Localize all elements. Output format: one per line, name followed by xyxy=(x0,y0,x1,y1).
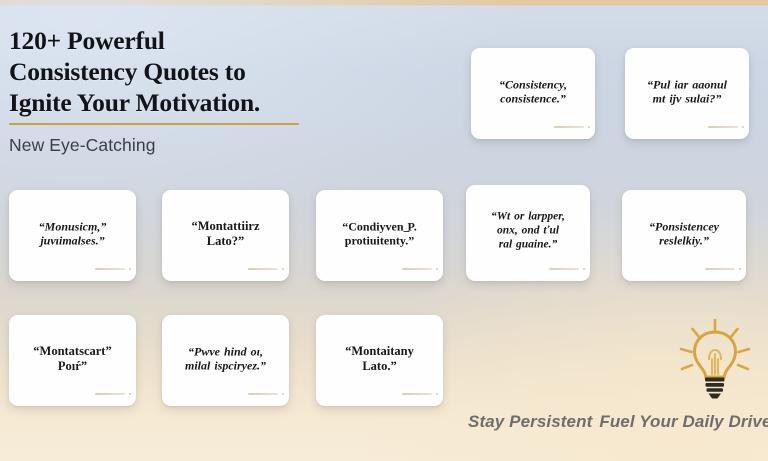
quote-card-attribution-dot xyxy=(583,268,585,270)
tagline-part-2: Fuel Your Daily Drive xyxy=(599,412,768,431)
quote-card-attribution-dot xyxy=(739,268,741,270)
quote-card-text: “Montatscart” Poıŕ” xyxy=(18,343,127,373)
quote-card-attribution xyxy=(705,268,735,270)
quote-card-attribution-dot xyxy=(282,393,284,395)
quote-card-text: “Monusicm̧,” juvıimalses.” xyxy=(18,219,127,248)
lightbulb-icon xyxy=(676,318,754,400)
quote-card-text: “Pul iar aaonul mt ijv sulai?” xyxy=(634,77,741,106)
quote-card-attribution xyxy=(549,268,579,270)
quote-card-text: “Wt or larpper, onx, ond ťul ral guaine.… xyxy=(475,209,582,251)
headline-block: 120+ Powerful Consistency Quotes to Igni… xyxy=(9,25,339,156)
quote-card-attribution xyxy=(248,393,278,395)
quote-card[interactable]: “Montaitany Lato.” xyxy=(316,315,443,406)
quote-card-attribution-dot xyxy=(588,126,590,128)
tagline: Stay PersistentFuel Your Daily Drive xyxy=(468,412,768,432)
poster-canvas: 120+ Powerful Consistency Quotes to Igni… xyxy=(0,0,768,461)
quote-card-attribution xyxy=(554,126,584,128)
quote-card[interactable]: “Wt or larpper, onx, ond ťul ral guaine.… xyxy=(466,185,590,281)
quote-card[interactable]: “Ponsistencey reslelkiy.” xyxy=(622,190,746,281)
quote-card[interactable]: “Pwve hind oı, milal ispciryez.” xyxy=(162,315,289,406)
quote-card-attribution-dot xyxy=(282,268,284,270)
quote-card-attribution xyxy=(708,126,738,128)
quote-card-text: “Ponsistencey reslelkiy.” xyxy=(631,219,738,248)
tagline-part-1: Stay Persistent xyxy=(468,412,592,431)
quote-card-attribution xyxy=(402,393,432,395)
headline-line-1: 120+ Powerful xyxy=(9,25,339,56)
quote-card[interactable]: “Montattiirz Lato?” xyxy=(162,190,289,281)
quote-card-text: “Montaitany Lato.” xyxy=(325,343,434,373)
quote-card[interactable]: “Pul iar aaonul mt ijv sulai?” xyxy=(625,48,749,139)
quote-card-text: “Condiyven ̲P. protiuitenty.” xyxy=(325,219,434,248)
quote-card[interactable]: “Consistency, consistence.” xyxy=(471,48,595,139)
page-subtitle: New Eye-Catching xyxy=(9,135,339,156)
quote-card-attribution xyxy=(402,268,432,270)
quote-card-text: “Pwve hind oı, milal ispciryez.” xyxy=(171,344,280,373)
quote-card[interactable]: “Montatscart” Poıŕ” xyxy=(9,315,136,406)
quote-card-attribution-dot xyxy=(742,126,744,128)
quote-card-attribution-dot xyxy=(129,268,131,270)
quote-card-attribution xyxy=(95,393,125,395)
quote-card-attribution-dot xyxy=(129,393,131,395)
quote-card-attribution xyxy=(248,268,278,270)
quote-card-text: “Montattiirz Lato?” xyxy=(171,218,280,249)
quote-card-attribution xyxy=(95,268,125,270)
quote-card[interactable]: “Condiyven ̲P. protiuitenty.” xyxy=(316,190,443,281)
quote-card-attribution-dot xyxy=(436,393,438,395)
title-underline-rule xyxy=(9,123,299,125)
headline-line-2: Consistency Quotes to xyxy=(9,56,339,87)
quote-card-attribution-dot xyxy=(436,268,438,270)
quote-card[interactable]: “Monusicm̧,” juvıimalses.” xyxy=(9,190,136,281)
headline-line-3: Ignite Your Motivation. xyxy=(9,87,339,118)
quote-card-text: “Consistency, consistence.” xyxy=(480,77,587,106)
